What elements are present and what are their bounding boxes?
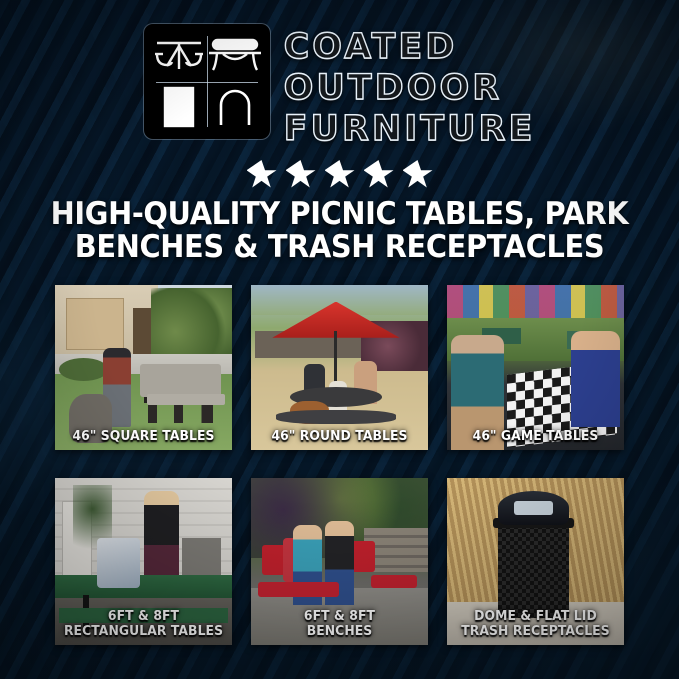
- headline-line-1: HIGH-QUALITY PICNIC TABLES, PARK: [50, 198, 629, 231]
- product-tile-caption: DOME & FLAT LID TRASH RECEPTACLES: [454, 610, 616, 639]
- caption-line: 46" SQUARE TABLES: [62, 430, 224, 445]
- product-tile-game-tables[interactable]: 46" GAME TABLES: [447, 285, 624, 450]
- bike-rack-icon: [207, 82, 263, 133]
- brand-wordmark: COATED OUTDOOR FURNITURE: [284, 24, 536, 149]
- square-tables-photo: [55, 285, 232, 450]
- bench-icon: [207, 31, 263, 82]
- product-tile-caption: 46" ROUND TABLES: [258, 430, 420, 445]
- wordmark-line-1: COATED: [284, 27, 536, 67]
- headline-line-2: BENCHES & TRASH RECEPTACLES: [50, 231, 629, 264]
- star-icon: [364, 160, 394, 189]
- star-icon: [325, 160, 355, 189]
- trash-receptacle-icon: [151, 82, 207, 133]
- star-icon: [247, 160, 277, 189]
- wordmark-line-3: FURNITURE: [284, 109, 536, 149]
- caption-line: DOME & FLAT LID: [454, 610, 616, 625]
- caption-line: BENCHES: [258, 625, 420, 640]
- picnic-table-icon: [151, 31, 207, 82]
- caption-line: 46" ROUND TABLES: [258, 430, 420, 445]
- logo-icon-grid: [144, 24, 270, 139]
- product-tile-square-tables[interactable]: 46" SQUARE TABLES: [55, 285, 232, 450]
- product-tile-rectangular-tables[interactable]: 6FT & 8FT RECTANGULAR TABLES: [55, 478, 232, 645]
- product-tile-benches[interactable]: 6FT & 8FT BENCHES: [251, 478, 428, 645]
- product-tile-caption: 6FT & 8FT BENCHES: [258, 610, 420, 639]
- logo-grid-divider-horizontal: [156, 82, 258, 83]
- game-tables-photo: [447, 285, 624, 450]
- caption-line: 6FT & 8FT: [258, 610, 420, 625]
- caption-line: RECTANGULAR TABLES: [62, 625, 224, 640]
- product-tile-trash-receptacles[interactable]: DOME & FLAT LID TRASH RECEPTACLES: [447, 478, 624, 645]
- product-tile-caption: 46" GAME TABLES: [454, 430, 616, 445]
- headline: HIGH-QUALITY PICNIC TABLES, PARK BENCHES…: [50, 198, 629, 264]
- product-banner: COATED OUTDOOR FURNITURE HIGH-QUALITY PI…: [0, 0, 679, 679]
- caption-line: 6FT & 8FT: [62, 610, 224, 625]
- caption-line: TRASH RECEPTACLES: [454, 625, 616, 640]
- product-tile-round-tables[interactable]: 46" ROUND TABLES: [251, 285, 428, 450]
- caption-line: 46" GAME TABLES: [454, 430, 616, 445]
- star-icon: [286, 160, 316, 189]
- wordmark-line-2: OUTDOOR: [284, 68, 536, 108]
- product-tile-caption: 6FT & 8FT RECTANGULAR TABLES: [62, 610, 224, 639]
- star-icon: [403, 160, 433, 189]
- product-tile-grid: 46" SQUARE TABLES 46" ROUND TABLES: [55, 285, 625, 645]
- product-tile-caption: 46" SQUARE TABLES: [62, 430, 224, 445]
- star-rating: [0, 160, 679, 189]
- brand-logo: COATED OUTDOOR FURNITURE: [0, 24, 679, 149]
- round-tables-photo: [251, 285, 428, 450]
